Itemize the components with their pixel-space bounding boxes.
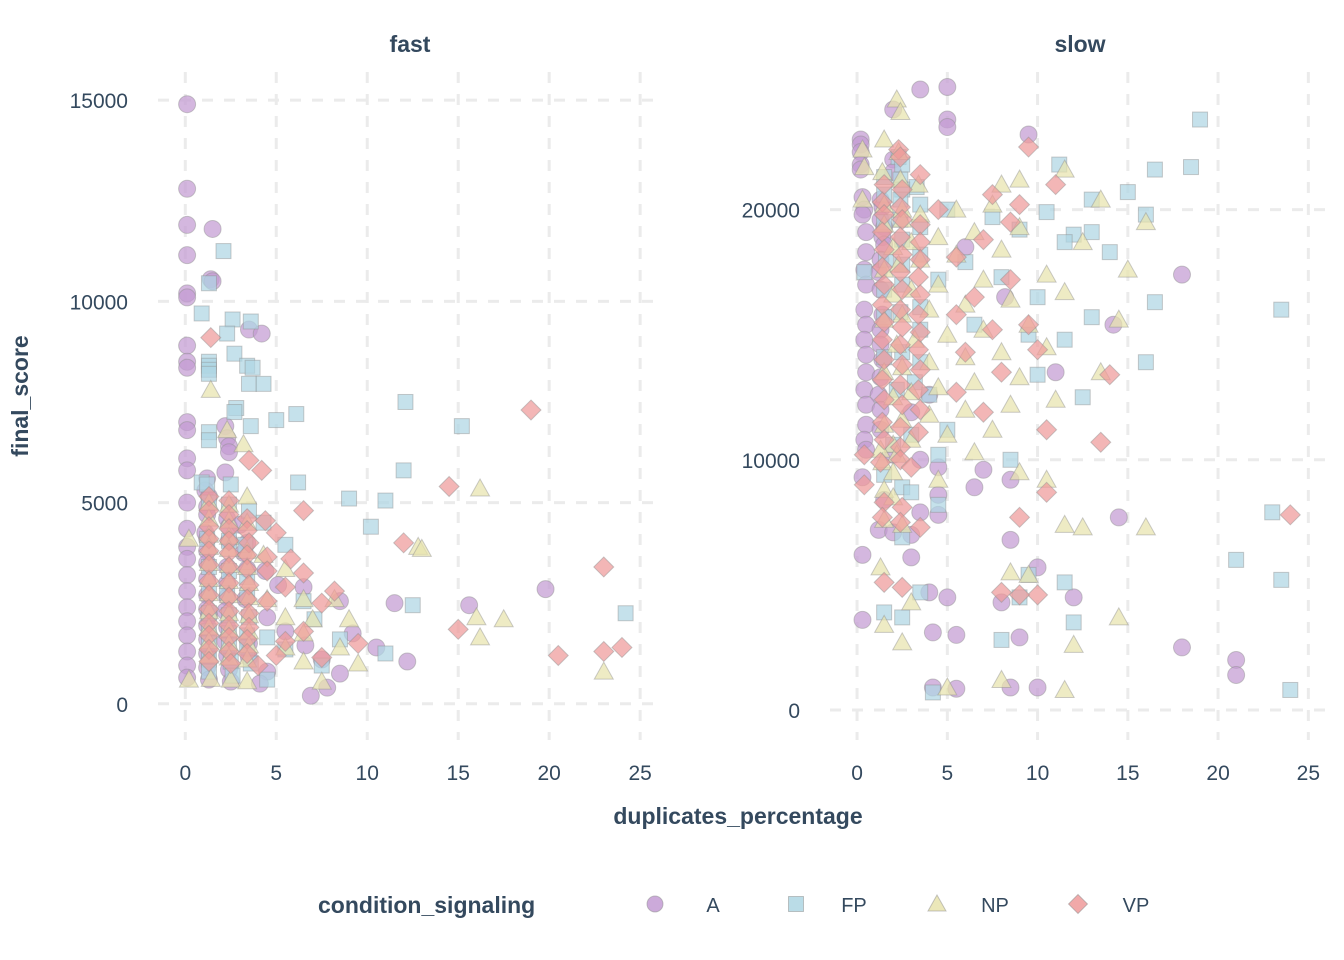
data-point-circle bbox=[975, 461, 992, 478]
data-point-square bbox=[1265, 505, 1280, 520]
data-point-circle bbox=[1228, 666, 1245, 683]
data-point-square bbox=[857, 265, 872, 280]
data-point-circle bbox=[1011, 629, 1028, 646]
x-tick-label-slow-0: 0 bbox=[851, 762, 863, 785]
data-point-square bbox=[1066, 615, 1081, 630]
data-point-circle bbox=[204, 220, 221, 237]
facet-panel-slow: slow051015202501000020000 bbox=[742, 31, 1330, 785]
data-point-square bbox=[1075, 390, 1090, 405]
data-point-square bbox=[1057, 575, 1072, 590]
y-tick-label-fast-5000: 5000 bbox=[81, 493, 128, 516]
data-point-circle bbox=[179, 359, 196, 376]
data-point-square bbox=[1184, 160, 1199, 175]
data-point-circle bbox=[179, 180, 196, 197]
data-point-square bbox=[1147, 295, 1162, 310]
data-point-circle bbox=[386, 595, 403, 612]
y-axis-title: final_score bbox=[7, 335, 33, 456]
data-point-circle bbox=[179, 550, 196, 567]
data-point-square bbox=[1039, 205, 1054, 220]
data-point-circle bbox=[1029, 679, 1046, 696]
data-point-circle bbox=[912, 81, 929, 98]
data-point-circle bbox=[302, 687, 319, 704]
data-point-square bbox=[1193, 112, 1208, 127]
data-point-square bbox=[201, 433, 216, 448]
facet-panel-fast: fast0510152025050001000015000 bbox=[70, 31, 662, 785]
data-point-circle bbox=[1047, 364, 1064, 381]
data-point-circle bbox=[179, 462, 196, 479]
data-point-square bbox=[1229, 552, 1244, 567]
data-point-circle bbox=[1228, 651, 1245, 668]
data-point-circle bbox=[939, 79, 956, 96]
data-point-square bbox=[1057, 235, 1072, 250]
data-point-square bbox=[223, 477, 238, 492]
data-point-square bbox=[398, 394, 413, 409]
data-point-circle bbox=[220, 444, 237, 461]
y-tick-label-fast-0: 0 bbox=[116, 694, 128, 717]
y-tick-label-fast-10000: 10000 bbox=[70, 291, 128, 314]
data-point-square bbox=[1030, 290, 1045, 305]
data-point-square bbox=[216, 244, 231, 259]
data-point-square bbox=[895, 610, 910, 625]
legend-label-A: A bbox=[706, 895, 720, 917]
data-point-circle bbox=[1173, 266, 1190, 283]
x-tick-label-slow-25: 25 bbox=[1297, 762, 1320, 785]
data-point-square bbox=[220, 326, 235, 341]
data-point-square bbox=[260, 630, 275, 645]
data-point-square bbox=[405, 598, 420, 613]
data-point-circle bbox=[948, 626, 965, 643]
data-point-circle bbox=[858, 346, 875, 363]
data-point-circle bbox=[179, 627, 196, 644]
data-point-circle bbox=[924, 624, 941, 641]
legend-title: condition_signaling bbox=[318, 892, 535, 918]
data-point-square bbox=[931, 497, 946, 512]
data-point-circle bbox=[179, 583, 196, 600]
y-tick-label-slow-20000: 20000 bbox=[742, 200, 800, 223]
plot-canvas: fast0510152025050001000015000slow0510152… bbox=[0, 0, 1344, 960]
x-tick-label-fast-0: 0 bbox=[179, 762, 191, 785]
data-point-square bbox=[1003, 452, 1018, 467]
data-point-circle bbox=[331, 665, 348, 682]
data-point-circle bbox=[179, 247, 196, 264]
data-point-square bbox=[243, 419, 258, 434]
data-point-square bbox=[245, 360, 260, 375]
data-point-square bbox=[241, 376, 256, 391]
x-tick-label-fast-20: 20 bbox=[538, 762, 561, 785]
x-axis-title: duplicates_percentage bbox=[613, 803, 862, 829]
x-tick-label-fast-25: 25 bbox=[628, 762, 651, 785]
data-point-square bbox=[1120, 185, 1135, 200]
facet-title-fast: fast bbox=[390, 31, 431, 57]
data-point-circle bbox=[179, 337, 196, 354]
data-point-square bbox=[931, 447, 946, 462]
legend-marker-FP[interactable] bbox=[789, 897, 804, 912]
y-tick-label-slow-10000: 10000 bbox=[742, 450, 800, 473]
data-point-circle bbox=[179, 96, 196, 113]
scatter-plot-figure: fast0510152025050001000015000slow0510152… bbox=[0, 0, 1344, 960]
data-point-circle bbox=[856, 331, 873, 348]
x-tick-label-slow-10: 10 bbox=[1026, 762, 1049, 785]
data-point-square bbox=[363, 519, 378, 534]
data-point-square bbox=[227, 405, 242, 420]
data-point-circle bbox=[939, 119, 956, 136]
data-point-square bbox=[194, 306, 209, 321]
data-point-circle bbox=[179, 289, 196, 306]
data-point-circle bbox=[854, 546, 871, 563]
legend-label-NP: NP bbox=[981, 895, 1009, 917]
x-tick-label-fast-10: 10 bbox=[356, 762, 379, 785]
data-point-circle bbox=[1002, 531, 1019, 548]
data-point-square bbox=[913, 585, 928, 600]
data-point-circle bbox=[179, 494, 196, 511]
data-point-circle bbox=[179, 216, 196, 233]
data-point-square bbox=[1084, 310, 1099, 325]
data-point-square bbox=[378, 646, 393, 661]
data-point-circle bbox=[903, 549, 920, 566]
x-tick-label-slow-5: 5 bbox=[941, 762, 953, 785]
data-point-circle bbox=[854, 611, 871, 628]
data-point-square bbox=[1057, 332, 1072, 347]
data-point-square bbox=[378, 493, 393, 508]
data-point-square bbox=[618, 606, 633, 621]
facet-title-slow: slow bbox=[1054, 31, 1105, 57]
data-point-circle bbox=[179, 422, 196, 439]
data-point-square bbox=[396, 463, 411, 478]
y-tick-label-slow-0: 0 bbox=[788, 700, 800, 723]
x-tick-label-slow-15: 15 bbox=[1116, 762, 1139, 785]
data-point-square bbox=[201, 366, 216, 381]
data-point-square bbox=[225, 312, 240, 327]
legend-label-VP: VP bbox=[1123, 895, 1150, 917]
data-point-circle bbox=[939, 589, 956, 606]
x-tick-label-fast-5: 5 bbox=[270, 762, 282, 785]
legend-marker-VP[interactable] bbox=[1069, 895, 1088, 914]
data-point-circle bbox=[1110, 509, 1127, 526]
data-point-square bbox=[1084, 225, 1099, 240]
data-point-square bbox=[342, 491, 357, 506]
data-point-square bbox=[1274, 572, 1289, 587]
y-tick-label-fast-15000: 15000 bbox=[70, 90, 128, 113]
x-tick-label-fast-15: 15 bbox=[447, 762, 470, 785]
data-point-circle bbox=[537, 581, 554, 598]
x-tick-label-slow-20: 20 bbox=[1206, 762, 1229, 785]
data-point-square bbox=[904, 485, 919, 500]
data-point-square bbox=[994, 632, 1009, 647]
data-point-square bbox=[1147, 162, 1162, 177]
data-point-square bbox=[1030, 367, 1045, 382]
data-point-square bbox=[291, 475, 306, 490]
data-point-circle bbox=[399, 653, 416, 670]
data-point-square bbox=[1274, 302, 1289, 317]
legend-marker-NP[interactable] bbox=[928, 895, 946, 911]
data-point-square bbox=[1102, 245, 1117, 260]
data-point-circle bbox=[1065, 589, 1082, 606]
data-point-square bbox=[925, 685, 940, 700]
data-point-square bbox=[243, 314, 258, 329]
data-point-square bbox=[260, 672, 275, 687]
data-point-square bbox=[1138, 355, 1153, 370]
legend: condition_signalingAFPNPVP bbox=[318, 892, 1149, 918]
legend-label-FP: FP bbox=[841, 895, 867, 917]
data-point-square bbox=[201, 276, 216, 291]
data-point-square bbox=[1283, 682, 1298, 697]
data-point-circle bbox=[854, 206, 871, 223]
data-point-square bbox=[256, 376, 271, 391]
data-point-circle bbox=[1173, 639, 1190, 656]
legend-marker-A[interactable] bbox=[647, 896, 663, 912]
data-point-square bbox=[454, 419, 469, 434]
data-point-circle bbox=[179, 567, 196, 584]
data-point-square bbox=[269, 413, 284, 428]
data-point-square bbox=[289, 407, 304, 422]
data-point-circle bbox=[856, 301, 873, 318]
data-point-circle bbox=[966, 479, 983, 496]
